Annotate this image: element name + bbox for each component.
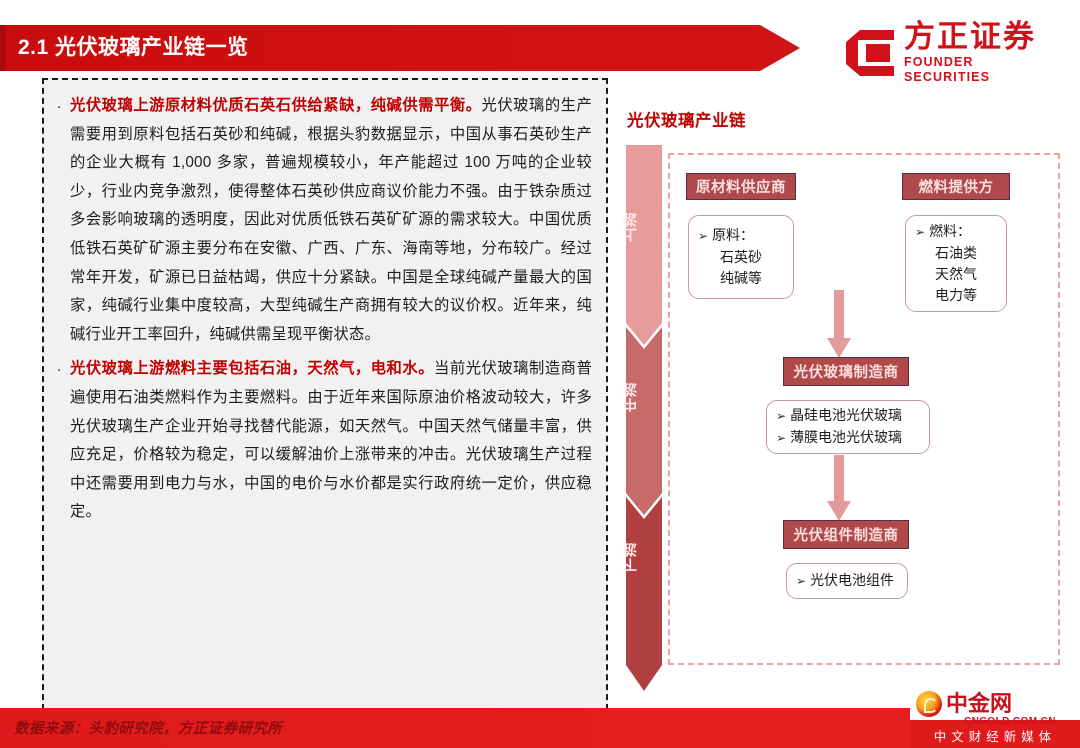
item-lead-text: 燃料： — [929, 223, 971, 239]
cngold-logo-icon — [916, 691, 942, 717]
flow-arrow-down-icon — [826, 290, 852, 360]
bullet-marker: · — [54, 355, 64, 384]
item-text: 薄膜电池光伏玻璃 — [790, 429, 902, 445]
data-source-note: 数据来源：头豹研究院，方正证券研究所 — [14, 717, 282, 738]
watermark-site-name: 中金网 — [946, 691, 1012, 717]
item-sub-text: 纯碱等 — [698, 268, 784, 289]
list-marker-icon: ➢ — [776, 431, 786, 445]
node-items-pv-glass-manufacturer[interactable]: ➢晶硅电池光伏玻璃 ➢薄膜电池光伏玻璃 — [766, 400, 930, 454]
list-marker-icon: ➢ — [698, 229, 708, 243]
brand-logo: 方正证券 FOUNDER SECURITIES — [844, 22, 1062, 84]
bullet-item: · 光伏玻璃上游原材料优质石英石供给紧缺，纯碱供需平衡。光伏玻璃的生产需要用到原… — [54, 92, 592, 349]
node-header-pv-glass-manufacturer[interactable]: 光伏玻璃制造商 — [783, 357, 909, 386]
content-text-panel: · 光伏玻璃上游原材料优质石英石供给紧缺，纯碱供需平衡。光伏玻璃的生产需要用到原… — [42, 78, 608, 710]
list-marker-icon: ➢ — [915, 225, 925, 239]
item-text: 晶硅电池光伏玻璃 — [790, 407, 902, 423]
node-header-fuel-supplier[interactable]: 燃料提供方 — [902, 173, 1010, 200]
stage-label-midstream: 中游 — [620, 375, 656, 419]
stage-label-upstream: 上游 — [620, 205, 656, 249]
founder-securities-mark-icon — [844, 29, 896, 77]
bullet-marker: · — [54, 92, 64, 121]
slide-title-bar: 2.1 光伏玻璃产业链一览 — [0, 25, 800, 71]
item-text: 光伏电池组件 — [810, 572, 894, 588]
list-marker-icon: ➢ — [796, 574, 806, 588]
title-bar-left-accent — [0, 25, 6, 71]
item-sub-text: 天然气 — [915, 264, 997, 285]
node-header-raw-material-supplier[interactable]: 原材料供应商 — [686, 173, 796, 200]
item-sub-text: 石油类 — [915, 243, 997, 264]
node-items-fuel-supplier[interactable]: ➢燃料： 石油类 天然气 电力等 — [905, 215, 1007, 312]
watermark-top-row: 中金网 — [916, 691, 1012, 717]
bullet-body: 光伏玻璃的生产需要用到原料包括石英砂和纯碱，根据头豹数据显示，中国从事石英砂生产… — [70, 97, 592, 343]
node-header-pv-module-manufacturer[interactable]: 光伏组件制造商 — [783, 520, 909, 549]
logo-english-name: FOUNDER SECURITIES — [904, 55, 1062, 85]
logo-wordmark: 方正证券 FOUNDER SECURITIES — [904, 21, 1062, 85]
bullet-paragraph: 光伏玻璃上游原材料优质石英石供给紧缺，纯碱供需平衡。光伏玻璃的生产需要用到原料包… — [70, 92, 592, 349]
flow-arrow-down-icon — [826, 455, 852, 523]
bullet-paragraph: 光伏玻璃上游燃料主要包括石油，天然气，电和水。当前光伏玻璃制造商普遍使用石油类燃… — [70, 355, 592, 527]
list-marker-icon: ➢ — [776, 409, 786, 423]
node-items-pv-module-manufacturer[interactable]: ➢光伏电池组件 — [786, 563, 908, 599]
node-items-raw-material-supplier[interactable]: ➢原料： 石英砂 纯碱等 — [688, 215, 794, 299]
industry-chain-diagram: 光伏玻璃产业链 上游 中游 下游 原材料供应商 ➢原料： 石英砂 纯碱等 燃料提… — [620, 95, 1068, 695]
site-watermark: 中金网 CNGOLD.COM.CN 中文财经新媒体 — [910, 690, 1080, 748]
bullet-lead: 光伏玻璃上游原材料优质石英石供给紧缺，纯碱供需平衡。 — [70, 97, 482, 114]
item-row: ➢光伏电池组件 — [796, 570, 898, 592]
diagram-title: 光伏玻璃产业链 — [627, 107, 746, 131]
item-lead-row: ➢原料： — [698, 225, 784, 247]
page-title: 2.1 光伏玻璃产业链一览 — [18, 25, 249, 71]
bullet-item: · 光伏玻璃上游燃料主要包括石油，天然气，电和水。当前光伏玻璃制造商普遍使用石油… — [54, 355, 592, 527]
watermark-tagline: 中文财经新媒体 — [910, 726, 1080, 745]
bullet-lead: 光伏玻璃上游燃料主要包括石油，天然气，电和水。 — [70, 360, 434, 377]
item-sub-text: 电力等 — [915, 285, 997, 306]
item-row: ➢晶硅电池光伏玻璃 — [776, 405, 920, 427]
item-lead-row: ➢燃料： — [915, 221, 997, 243]
bullet-body: 当前光伏玻璃制造商普遍使用石油类燃料作为主要燃料。由于近年来国际原油价格波动较大… — [70, 360, 592, 520]
logo-chinese-name: 方正证券 — [904, 21, 1062, 54]
item-row: ➢薄膜电池光伏玻璃 — [776, 427, 920, 449]
stage-label-downstream: 下游 — [620, 535, 656, 579]
item-sub-text: 石英砂 — [698, 247, 784, 268]
item-lead-text: 原料： — [712, 227, 754, 243]
